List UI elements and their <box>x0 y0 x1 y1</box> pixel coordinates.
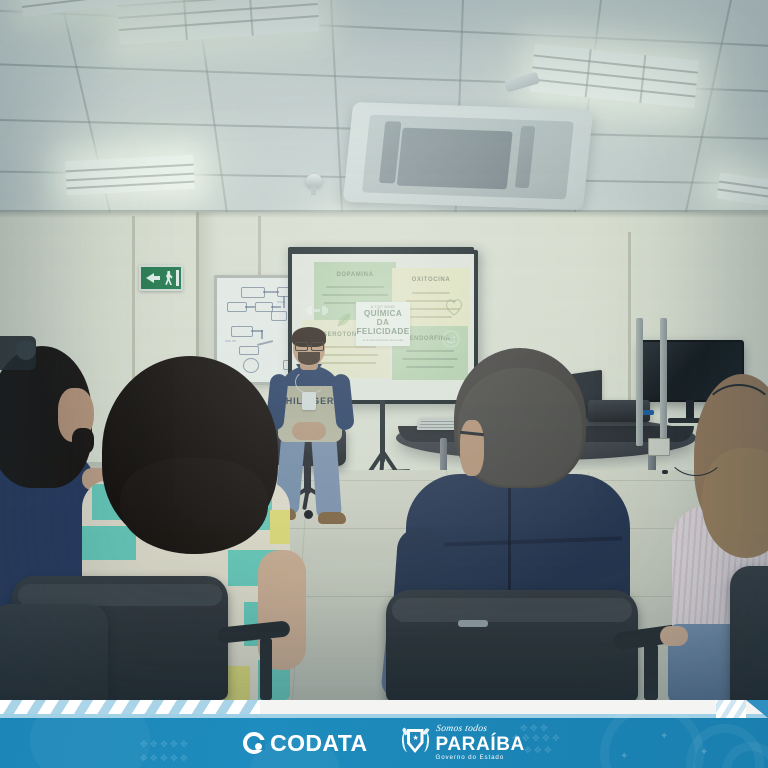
person-attendee-2 <box>72 362 312 700</box>
person-attendee-4 <box>672 388 768 700</box>
brasao-paraiba-icon: ★ <box>402 727 429 759</box>
headset-microphone-boom <box>666 422 726 476</box>
person-attendee-3 <box>398 352 678 700</box>
footer-corner-stripes <box>716 700 746 718</box>
paraiba-wordmark: PARAÍBA <box>436 735 525 754</box>
ceiling-light-panel <box>116 0 319 45</box>
ceiling-light-panel <box>530 44 699 109</box>
headset-microphone-tip <box>662 470 668 474</box>
smoke-detector-icon <box>306 174 322 187</box>
paraiba-script-text: Somos todos <box>435 725 488 735</box>
ceiling-light-panel <box>65 155 195 196</box>
chair-post <box>644 644 658 700</box>
air-conditioner-unit <box>343 102 593 210</box>
emergency-exit-sign <box>139 265 183 291</box>
paraiba-subtitle: Governo do Estado <box>436 755 505 761</box>
footer-logos: CODATA ★ Somos todos PARAÍBA Governo do … <box>0 718 768 768</box>
paraiba-government-logo[interactable]: ★ Somos todos PARAÍBA Governo do Estado <box>402 725 525 762</box>
footer-corner-triangle <box>746 700 768 718</box>
codata-wordmark: CODATA <box>270 730 367 757</box>
chair-post <box>260 638 272 700</box>
ceiling-light-panel <box>717 173 768 210</box>
codata-logo[interactable]: CODATA <box>243 730 367 757</box>
office-chair <box>730 566 768 700</box>
camera-lens <box>16 340 36 360</box>
screenshot-root: xxxx xxx xx DOPAMINA OXITOCINA <box>0 0 768 768</box>
footer-banner: ✥ ✥ ✥ ✥ ✥ ✥ ✥ ✥ ✥ ✥ ✥ ✥ ✥ ✥ ✥ ✥ ✥ ✥ ✥ ✥ … <box>0 700 768 768</box>
event-photo: xxxx xxx xx DOPAMINA OXITOCINA <box>0 0 768 700</box>
office-chair-foreground <box>0 604 108 700</box>
codata-c-icon <box>243 732 265 754</box>
